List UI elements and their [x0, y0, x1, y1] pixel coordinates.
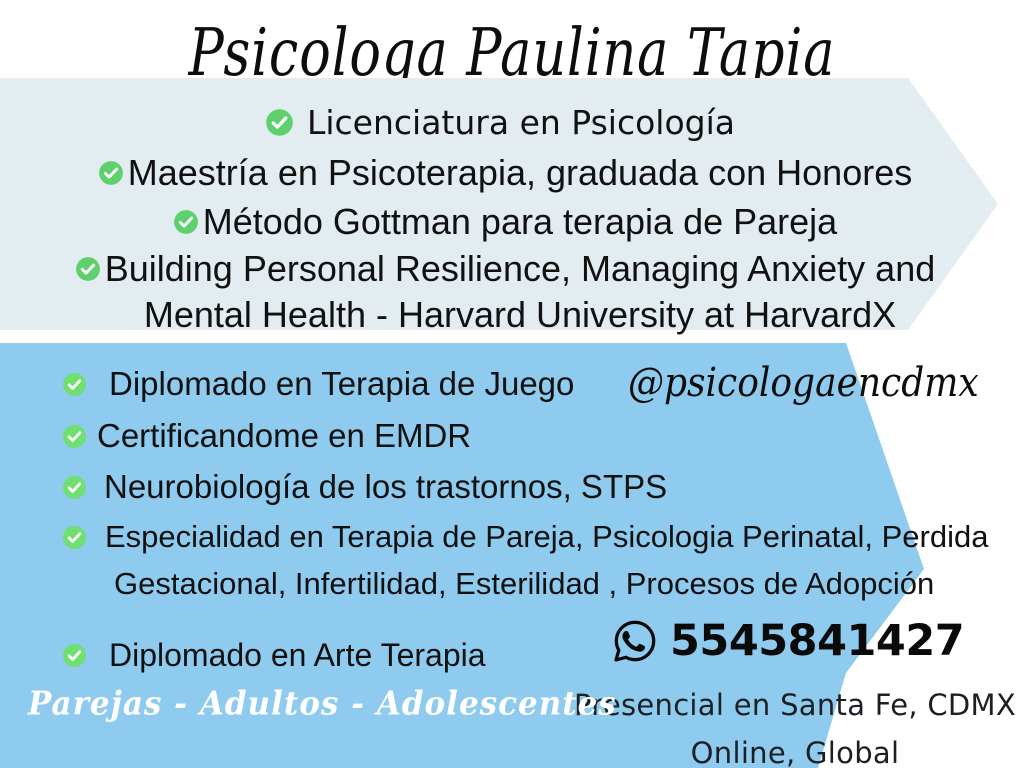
- check-circle-icon: [62, 525, 87, 550]
- credential-item: Especialidad en Terapia de Pareja, Psico…: [62, 513, 942, 561]
- credential-item: Maestría en Psicoterapia, graduada con H…: [0, 148, 1010, 198]
- check-circle-icon: [75, 256, 101, 282]
- services-tagline: Parejas - Adultos - Adolescentes: [28, 685, 617, 723]
- credential-label: Diplomado en Terapia de Juego: [109, 365, 574, 403]
- phone-number[interactable]: 5545841427: [670, 616, 964, 666]
- credential-label: Especialidad en Terapia de Pareja, Psico…: [105, 519, 989, 555]
- whatsapp-contact[interactable]: 5545841427: [612, 616, 964, 666]
- check-circle-icon: [62, 372, 87, 397]
- check-circle-icon: [98, 160, 124, 186]
- check-circle-icon: [265, 108, 294, 137]
- credential-item: Neurobiología de los trastornos, STPS: [62, 461, 942, 513]
- credential-label: Método Gottman para terapia de Pareja: [203, 201, 837, 243]
- check-circle-icon: [62, 424, 87, 449]
- credential-item: Building Personal Resilience, Managing A…: [0, 246, 1010, 292]
- credential-label: Neurobiología de los trastornos, STPS: [104, 468, 667, 506]
- poster-canvas: Psicologa Paulina Tapia Licenciatura en …: [0, 0, 1024, 768]
- check-circle-icon: [62, 643, 87, 668]
- location-line-1: Presencial en Santa Fe, CDMX: [565, 688, 1024, 722]
- credential-item: Diplomado en Terapia de Juego: [62, 357, 942, 411]
- check-circle-icon: [173, 209, 199, 235]
- credential-item: Certificandome en EMDR: [62, 411, 942, 461]
- credential-label-continued: Gestacional, Infertilidad, Esterilidad ,…: [62, 561, 942, 607]
- whatsapp-icon: [612, 618, 658, 664]
- credential-label: Certificandome en EMDR: [97, 417, 471, 455]
- credential-item: Licenciatura en Psicología: [0, 96, 1010, 148]
- credential-item: Método Gottman para terapia de Pareja: [0, 198, 1010, 246]
- credential-label: Diplomado en Arte Terapia: [109, 637, 486, 674]
- top-credentials-list: Licenciatura en Psicología Maestría en P…: [0, 96, 1010, 338]
- check-circle-icon: [62, 475, 87, 500]
- credential-label-continued: Mental Health - Harvard University at Ha…: [0, 292, 1010, 338]
- credential-label: Licenciatura en Psicología: [307, 103, 735, 142]
- location-line-2: Online, Global: [565, 736, 1024, 768]
- credential-label: Building Personal Resilience, Managing A…: [105, 248, 936, 290]
- credential-label: Maestría en Psicoterapia, graduada con H…: [128, 152, 912, 194]
